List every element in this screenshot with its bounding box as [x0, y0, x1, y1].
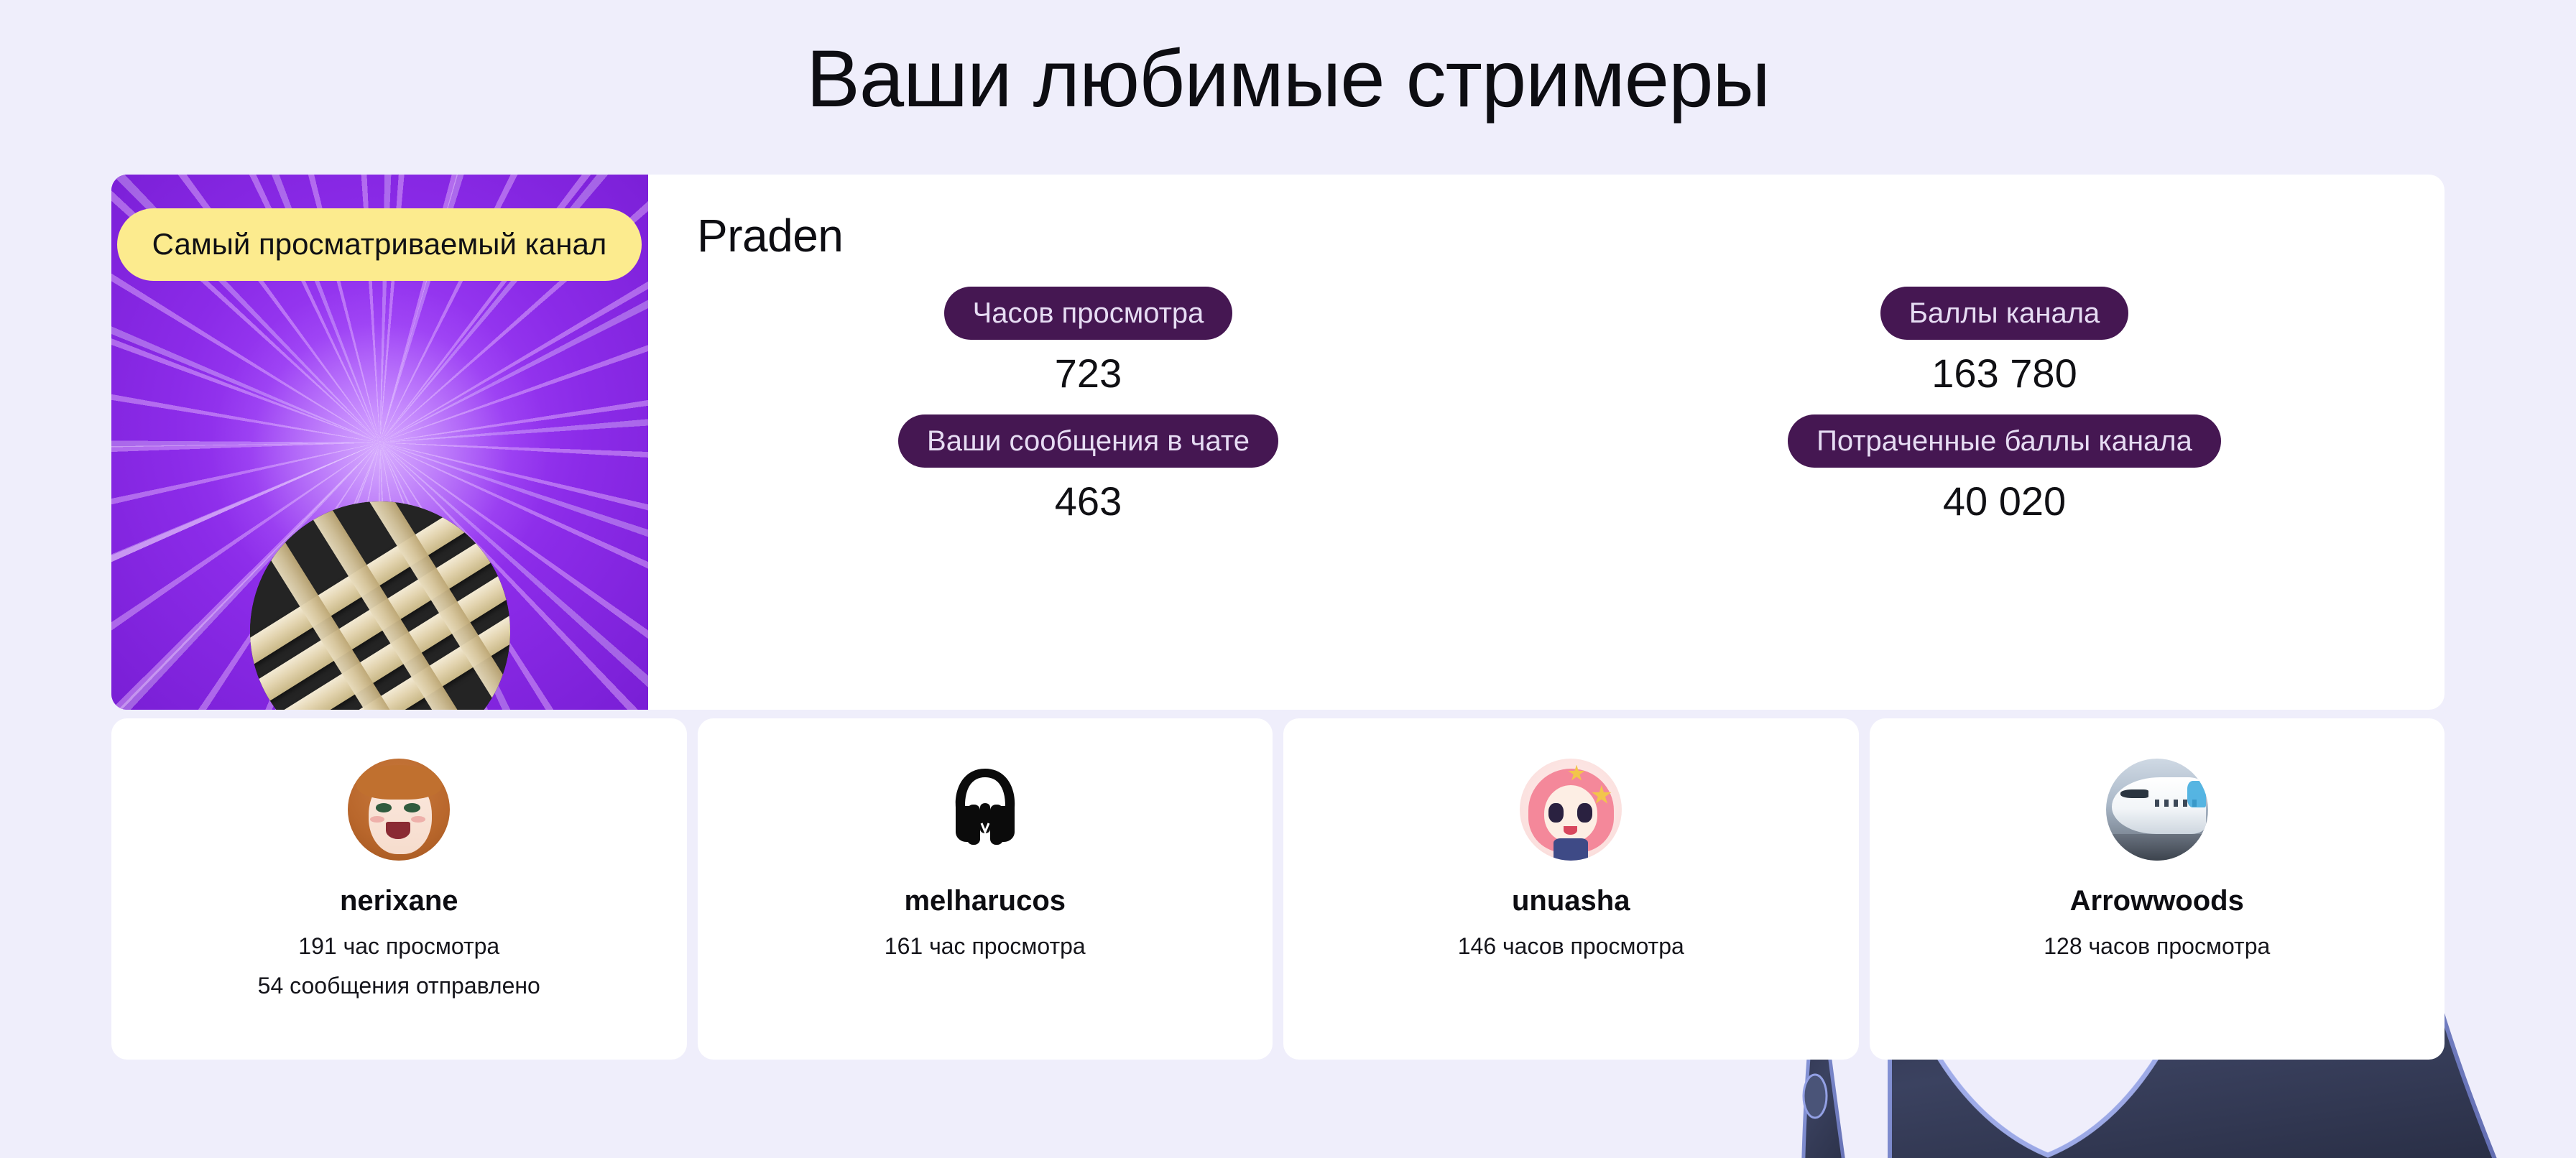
- streamer-card-list: nerixane 191 час просмотра 54 сообщения …: [111, 718, 2445, 1060]
- wooden-pallet-icon: [250, 501, 510, 710]
- channel-name: Praden: [697, 209, 2401, 262]
- stat-label: Ваши сообщения в чате: [898, 414, 1278, 468]
- stat-value: 163 780: [1931, 351, 2077, 396]
- pink-chibi-girl-avatar-icon: [1520, 759, 1622, 861]
- black-headphones-avatar-icon: [934, 759, 1036, 861]
- stat-spent-points: Потраченные баллы канала 40 020: [1607, 414, 2401, 542]
- streamer-card-melharucos[interactable]: melharucos 161 час просмотра: [698, 718, 1273, 1060]
- featured-avatar: [250, 501, 510, 710]
- anime-girl-orange-hair-avatar-icon: [348, 759, 450, 861]
- stat-value: 463: [1055, 479, 1122, 524]
- featured-avatar-pane: Самый просматриваемый канал: [111, 175, 648, 710]
- streamer-name: nerixane: [340, 885, 458, 917]
- stat-hours-watched: Часов просмотра 723: [691, 287, 1485, 414]
- stat-value: 723: [1055, 351, 1122, 396]
- streamer-hours: 191 час просмотра: [298, 933, 499, 960]
- featured-stat-grid: Часов просмотра 723 Баллы канала 163 780…: [691, 287, 2401, 542]
- streamer-messages: 54 сообщения отправлено: [258, 973, 540, 999]
- streamer-hours: 128 часов просмотра: [2044, 933, 2270, 960]
- page-title: Ваши любимые стримеры: [0, 34, 2576, 123]
- featured-stats-pane: Praden Часов просмотра 723 Баллы канала …: [648, 175, 2445, 710]
- stat-value: 40 020: [1943, 479, 2066, 524]
- streamer-name: unuasha: [1512, 885, 1630, 917]
- streamer-name: melharucos: [904, 885, 1066, 917]
- page-root: Ваши любимые стримеры Самый просматривае…: [0, 0, 2576, 1158]
- streamer-name: Arrowwoods: [2070, 885, 2244, 917]
- airplane-nose-avatar-icon: [2106, 759, 2208, 861]
- featured-channel-card[interactable]: Самый просматриваемый канал Praden Часов…: [111, 175, 2445, 710]
- streamer-card-unuasha[interactable]: unuasha 146 часов просмотра: [1283, 718, 1859, 1060]
- stat-channel-points: Баллы канала 163 780: [1607, 287, 2401, 414]
- stat-label: Часов просмотра: [944, 287, 1233, 340]
- most-watched-badge: Самый просматриваемый канал: [117, 208, 642, 281]
- stat-label: Потраченные баллы канала: [1788, 414, 2221, 468]
- streamer-card-nerixane[interactable]: nerixane 191 час просмотра 54 сообщения …: [111, 718, 687, 1060]
- streamer-hours: 161 час просмотра: [885, 933, 1086, 960]
- stat-chat-messages: Ваши сообщения в чате 463: [691, 414, 1485, 542]
- streamer-hours: 146 часов просмотра: [1458, 933, 1684, 960]
- streamer-card-arrowwoods[interactable]: Arrowwoods 128 часов просмотра: [1870, 718, 2445, 1060]
- stat-label: Баллы канала: [1880, 287, 2129, 340]
